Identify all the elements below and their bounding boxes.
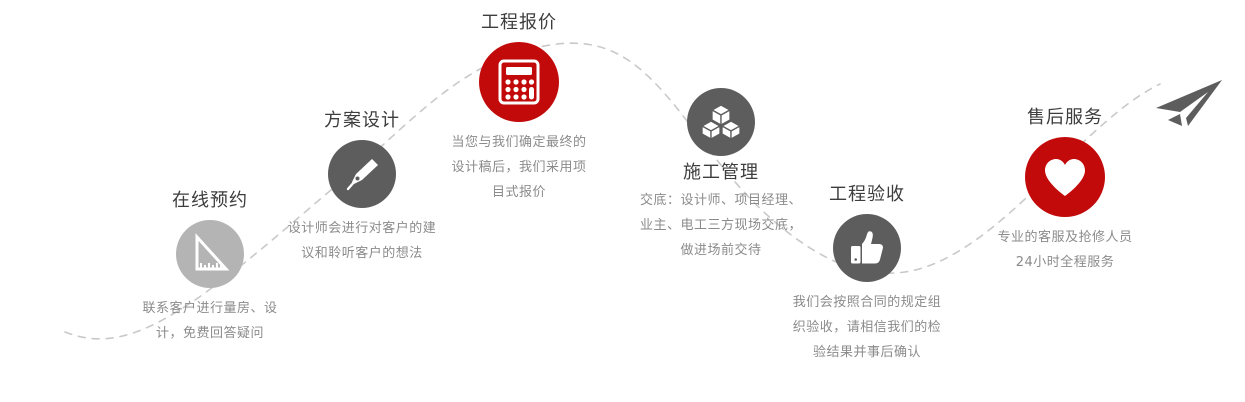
step-description: 我们会按照合同的规定组织验收，请相信我们的检验结果并事后确认 xyxy=(787,290,947,365)
step-description: 联系客户进行量房、设计，免费回答疑问 xyxy=(130,296,290,346)
step-title: 工程报价 xyxy=(389,10,649,36)
step-description: 当您与我们确定最终的设计稿后，我们采用项目式报价 xyxy=(449,130,589,205)
heart-icon xyxy=(1025,137,1105,217)
step-title: 售后服务 xyxy=(935,105,1195,131)
process-flow-diagram: 在线预约 联系客户进行量房、设计，免费回答疑问 方案设计 xyxy=(0,0,1245,402)
step-description: 专业的客服及抢修人员24小时全程服务 xyxy=(989,225,1141,275)
calculator-icon xyxy=(479,42,559,122)
process-step-6[interactable]: 售后服务 专业的客服及抢修人员24小时全程服务 xyxy=(935,105,1195,275)
pen-nib-icon xyxy=(328,140,396,208)
cubes-icon xyxy=(687,88,755,156)
thumbs-up-icon xyxy=(833,214,901,282)
step-description: 设计师会进行对客户的建议和聆听客户的想法 xyxy=(287,216,437,266)
